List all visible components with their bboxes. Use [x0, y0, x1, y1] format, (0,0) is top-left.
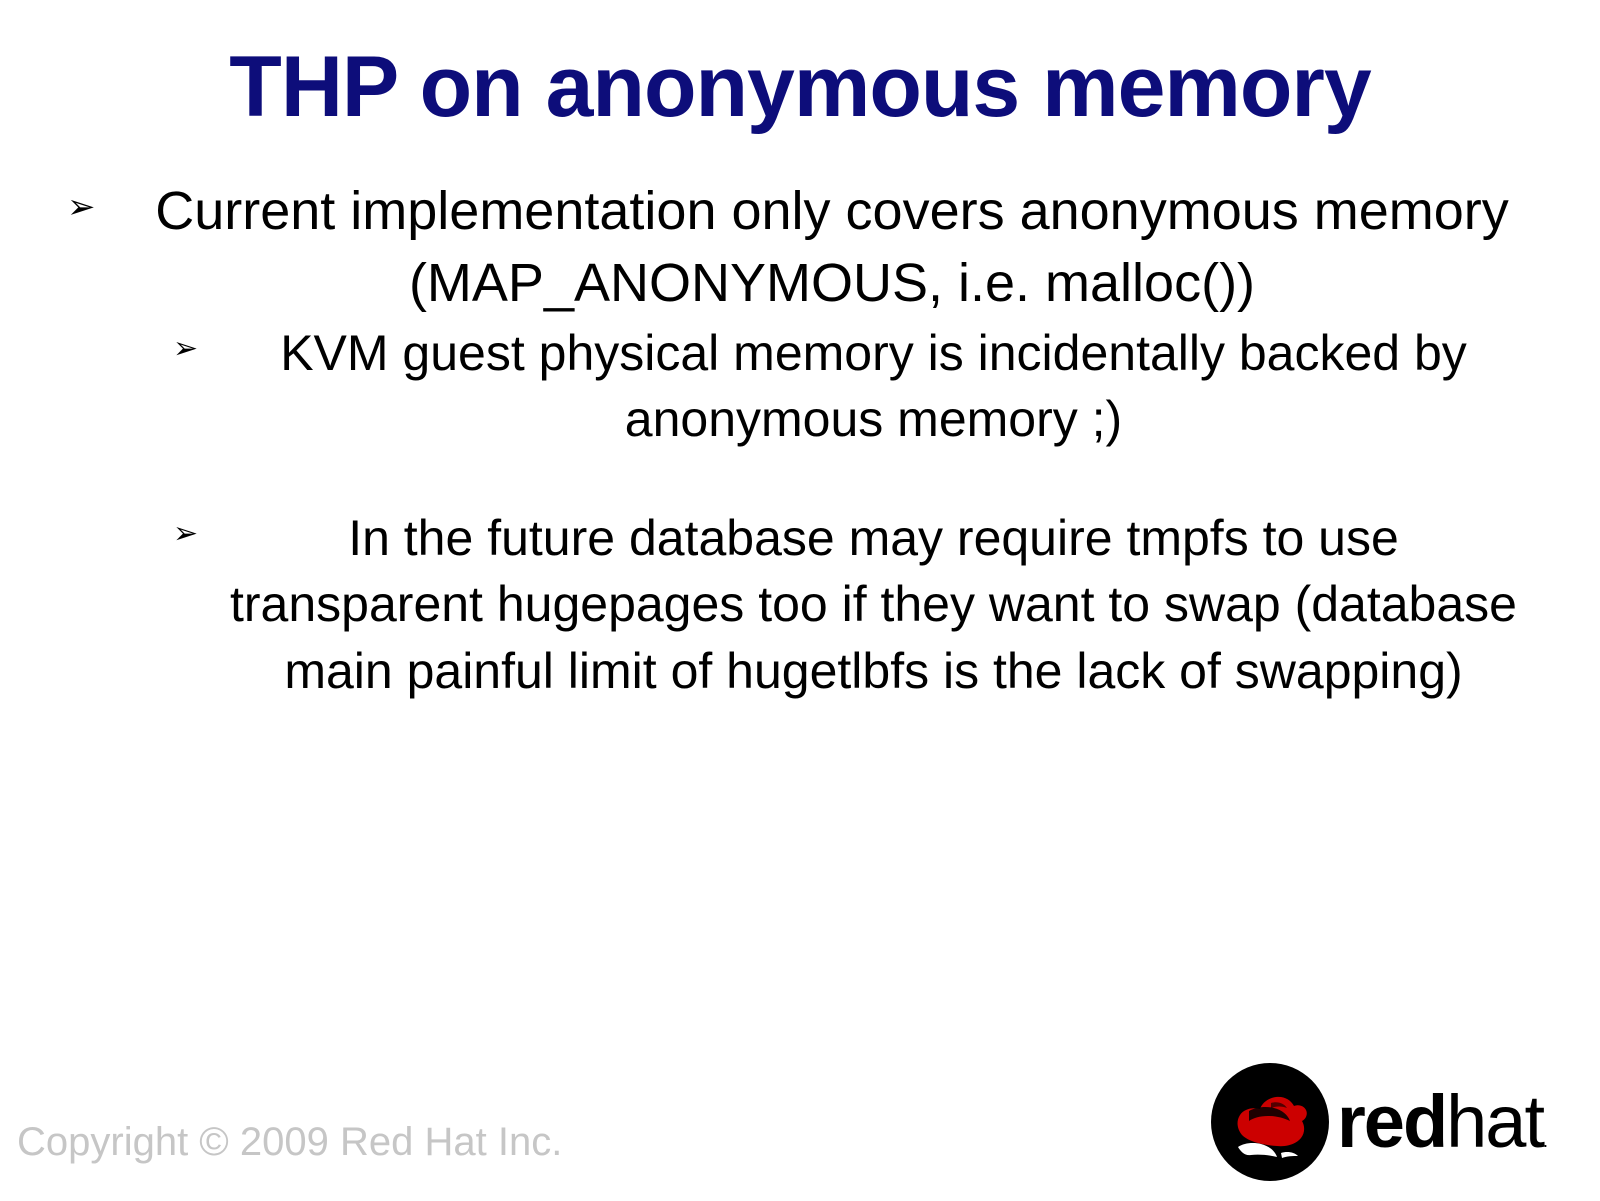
- arrow-bullet-icon: ➢: [67, 190, 96, 224]
- redhat-wordmark: redhat.: [1337, 1085, 1548, 1159]
- redhat-logo: redhat.: [1211, 1063, 1581, 1183]
- bullet-item-1-text: Current implementation only covers anony…: [109, 176, 1555, 320]
- bullet-item-3: ➢ In the future database may require tmp…: [55, 505, 1555, 705]
- copyright-notice: Copyright © 2009 Red Hat Inc.: [17, 1120, 562, 1165]
- redhat-shadowman-icon: [1211, 1063, 1329, 1181]
- redhat-wordmark-trademark: .: [1543, 1131, 1548, 1151]
- bullet-item-2-text: KVM guest physical memory is incidentall…: [220, 320, 1527, 453]
- redhat-wordmark-red: red: [1337, 1080, 1446, 1163]
- bullet-item-3-text: In the future database may require tmpfs…: [220, 505, 1527, 705]
- bullet-item-1: ➢ Current implementation only covers ano…: [55, 176, 1555, 320]
- bullet-item-2: ➢ KVM guest physical memory is incidenta…: [55, 320, 1555, 453]
- redhat-wordmark-hat: hat: [1446, 1080, 1543, 1163]
- bullet-list: ➢ Current implementation only covers ano…: [55, 176, 1555, 704]
- slide: THP on anonymous memory ➢ Current implem…: [0, 0, 1600, 1201]
- page-title: THP on anonymous memory: [0, 44, 1600, 130]
- arrow-bullet-icon: ➢: [173, 519, 198, 549]
- arrow-bullet-icon: ➢: [173, 334, 198, 364]
